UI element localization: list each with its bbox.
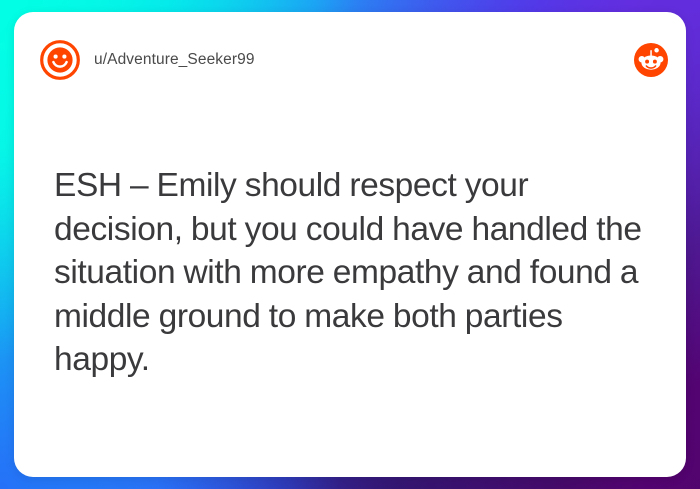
smiley-face-avatar-icon bbox=[40, 40, 80, 80]
reddit-comment-card: u/Adventure_Seeker99 bbox=[14, 12, 686, 477]
reddit-snoo-icon bbox=[634, 43, 668, 77]
gradient-backdrop: u/Adventure_Seeker99 bbox=[0, 0, 700, 489]
card-header: u/Adventure_Seeker99 bbox=[14, 12, 686, 108]
post-text: ESH – Emily should respect your decision… bbox=[54, 164, 662, 382]
username-label: u/Adventure_Seeker99 bbox=[94, 51, 634, 69]
card-body: ESH – Emily should respect your decision… bbox=[54, 164, 662, 382]
